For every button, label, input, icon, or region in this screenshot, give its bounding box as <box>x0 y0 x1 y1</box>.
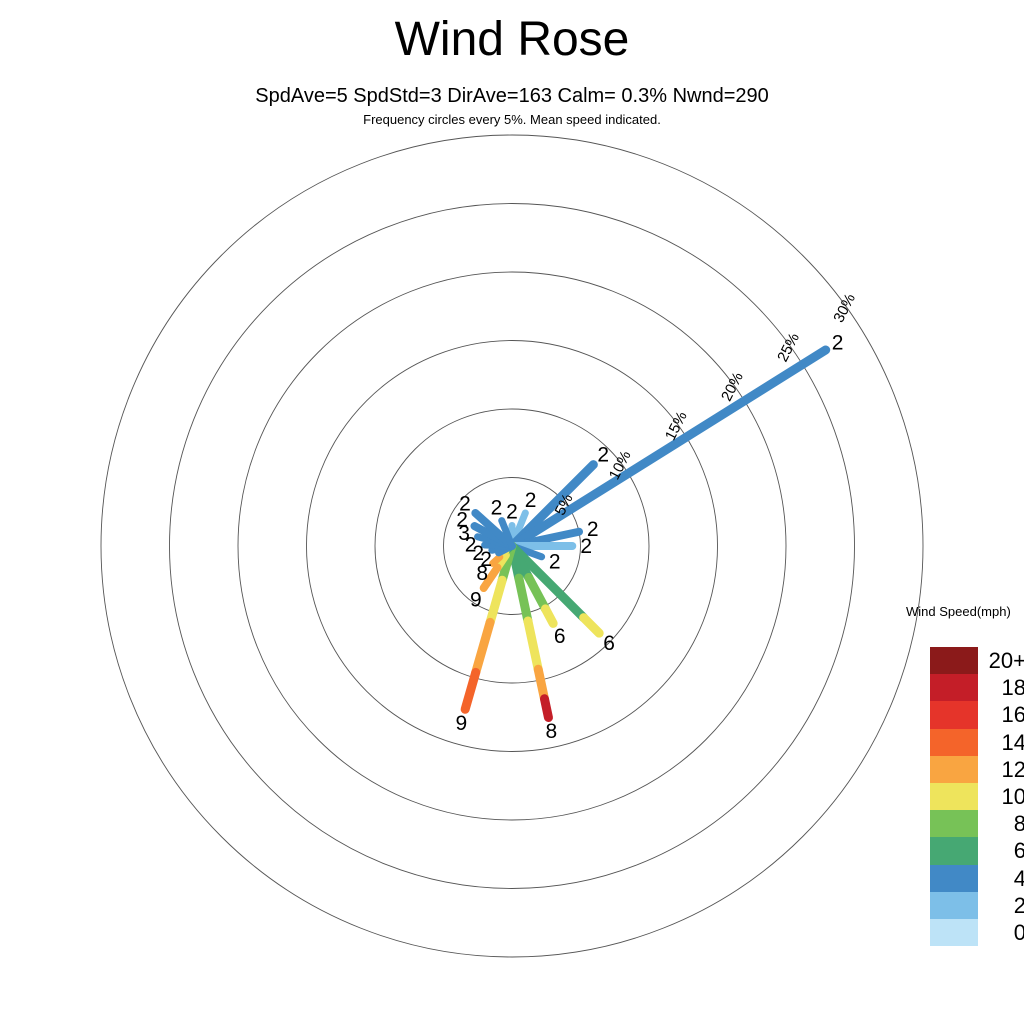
petal-mean-speed-label: 8 <box>546 720 558 743</box>
petal-segment <box>490 580 502 622</box>
petal-segment <box>465 672 476 709</box>
petal-mean-speed-label: 2 <box>506 500 518 523</box>
petal-mean-speed-label: 9 <box>455 712 467 735</box>
petal-mean-speed-label: 6 <box>603 632 615 655</box>
wind-petals <box>465 350 826 718</box>
petal-segment <box>544 699 548 718</box>
legend-row[interactable]: 14 <box>930 729 1024 756</box>
legend-label: 0 <box>978 919 1024 946</box>
petal-mean-speed-label: 2 <box>580 535 592 558</box>
legend-row[interactable]: 6 <box>930 837 1024 864</box>
wind-rose-plot: 5%10%15%20%25%30% 22222226689982223222 <box>0 0 1024 1024</box>
ring-label: 25% <box>774 330 803 364</box>
petal-segment <box>476 622 490 672</box>
legend-label: 8 <box>978 810 1024 837</box>
legend-row[interactable]: 0 <box>930 919 1024 946</box>
petal-mean-speed-label: 2 <box>459 493 471 516</box>
legend-row[interactable]: 12 <box>930 756 1024 783</box>
petal-segment <box>512 350 826 546</box>
ring-label-text: 25% <box>774 330 803 364</box>
legend-color-swatch <box>930 919 978 946</box>
legend-color-swatch <box>930 810 978 837</box>
legend-row[interactable]: 2 <box>930 892 1024 919</box>
ring-label-text: 30% <box>830 291 859 325</box>
legend-color-swatch <box>930 783 978 810</box>
legend-color-swatch <box>930 701 978 728</box>
legend-color-swatch <box>930 756 978 783</box>
legend-row[interactable]: 18 <box>930 674 1024 701</box>
petal-mean-speed-label: 2 <box>597 444 609 467</box>
legend-row[interactable]: 20+ <box>930 647 1024 674</box>
legend-color-swatch <box>930 865 978 892</box>
petal-segment <box>528 621 538 669</box>
legend-color-swatch <box>930 674 978 701</box>
legend-label: 18 <box>978 674 1024 701</box>
petal-mean-speed-label: 9 <box>470 589 482 612</box>
petal-mean-speed-label: 2 <box>491 497 503 520</box>
legend-label: 4 <box>978 865 1024 892</box>
legend-title: Wind Speed(mph) <box>906 604 1011 619</box>
legend-label: 2 <box>978 892 1024 919</box>
legend-label: 10 <box>978 783 1024 810</box>
legend-row[interactable]: 10 <box>930 783 1024 810</box>
petal-mean-speed-label: 2 <box>549 551 561 574</box>
ring-label: 30% <box>830 291 859 325</box>
legend-label: 14 <box>978 729 1024 756</box>
petal-segment <box>545 609 553 624</box>
legend-color-swatch <box>930 729 978 756</box>
legend-color-swatch <box>930 892 978 919</box>
legend-row[interactable]: 8 <box>930 810 1024 837</box>
petal-mean-speed-label: 2 <box>832 332 844 355</box>
petal-segment <box>584 618 599 633</box>
wind-rose-figure: Wind Rose SpdAve=5 SpdStd=3 DirAve=163 C… <box>0 0 1024 1024</box>
petal-segment <box>519 578 528 621</box>
petal-mean-speed-label: 2 <box>525 489 537 512</box>
legend-label: 20+ <box>978 647 1024 674</box>
legend-row[interactable]: 16 <box>930 701 1024 728</box>
legend-color-swatch <box>930 647 978 674</box>
legend-color-swatch <box>930 837 978 864</box>
wind-speed-legend: 20+181614121086420 <box>930 647 1024 946</box>
legend-label: 12 <box>978 756 1024 783</box>
petal-segment <box>493 557 500 563</box>
legend-label: 16 <box>978 701 1024 728</box>
legend-label: 6 <box>978 837 1024 864</box>
petal-segment <box>538 669 544 698</box>
petal-mean-speed-label: 6 <box>554 625 566 648</box>
ring-percent-labels: 5%10%15%20%25%30% <box>552 291 859 518</box>
legend-row[interactable]: 4 <box>930 865 1024 892</box>
